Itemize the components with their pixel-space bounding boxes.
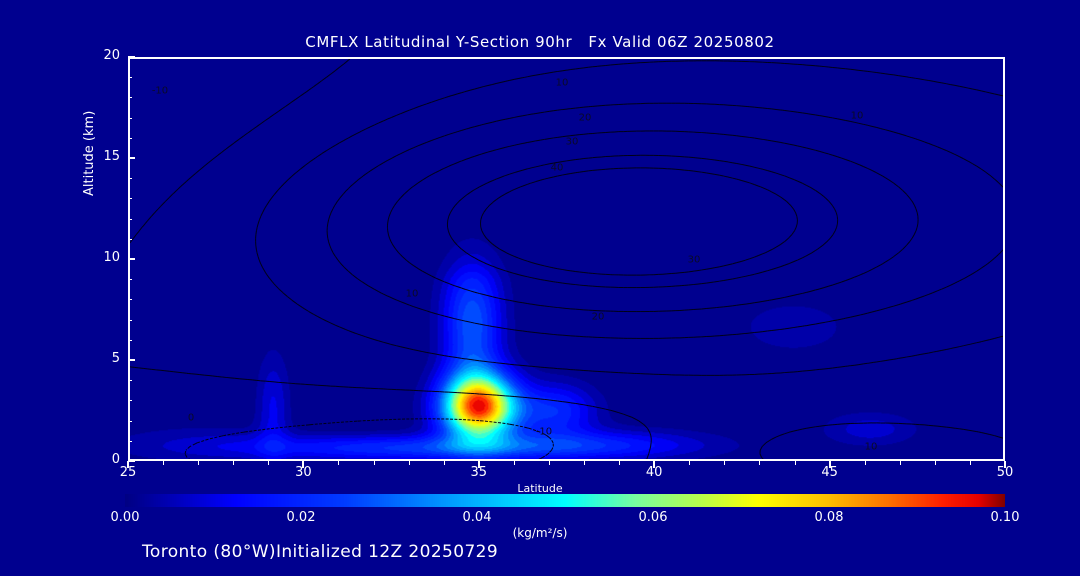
contour-line — [429, 175, 431, 176]
contour-line — [907, 242, 910, 245]
contour-line — [248, 431, 252, 432]
contour-line — [523, 303, 527, 304]
contour-line — [136, 232, 138, 235]
contour-line — [767, 190, 769, 191]
contour-line — [916, 227, 917, 231]
contour-line — [392, 345, 396, 346]
contour-line — [914, 231, 915, 234]
contour-line — [329, 216, 330, 220]
contour-line — [370, 338, 374, 339]
contour-line — [527, 114, 531, 115]
contour-line — [406, 260, 409, 262]
contour-line — [750, 275, 753, 276]
contour-line — [322, 151, 326, 154]
contour-line — [399, 253, 401, 255]
contour-line — [388, 296, 389, 297]
contour-line — [367, 127, 370, 128]
contour-line — [428, 311, 431, 312]
contour-line — [263, 209, 265, 213]
contour-line — [156, 209, 158, 211]
contour-label: 10 — [851, 111, 864, 122]
contour-line — [176, 189, 178, 190]
contour-line — [912, 234, 914, 238]
contour-label: 30 — [688, 255, 701, 266]
contour-line — [820, 322, 824, 323]
contour-line — [484, 234, 487, 238]
contour-line — [977, 342, 981, 343]
contour-line — [772, 172, 774, 173]
contour-line — [361, 281, 362, 282]
contour-line — [392, 115, 396, 117]
contour-line — [265, 118, 269, 121]
contour-line — [162, 202, 165, 205]
contour-line — [767, 439, 771, 442]
contour-line — [448, 227, 449, 231]
contour-line — [636, 420, 638, 421]
contour-line — [291, 102, 292, 103]
contour-line — [802, 428, 806, 429]
contour-line — [860, 314, 863, 315]
contour-line — [793, 260, 797, 262]
x-axis-minor-tick — [514, 461, 515, 465]
contour-line — [883, 262, 885, 264]
contour-line — [890, 306, 894, 307]
contour-line — [937, 147, 941, 149]
contour-line — [882, 176, 885, 178]
contour-line — [457, 319, 461, 320]
contour-line — [793, 327, 797, 328]
colorbar-tick-label: 0.02 — [261, 510, 341, 525]
contour-line — [224, 149, 226, 150]
contour-line — [200, 441, 204, 442]
contour-line — [455, 203, 457, 205]
contour-line — [863, 272, 867, 274]
contour-line — [440, 136, 444, 137]
contour-line — [488, 151, 492, 152]
contour-line — [942, 349, 946, 350]
contour-line — [790, 205, 793, 209]
contour-line — [510, 118, 514, 119]
x-axis-minor-tick — [970, 461, 971, 465]
contour-line — [261, 264, 263, 267]
contour-line — [431, 101, 435, 102]
x-axis-minor-tick — [689, 461, 690, 465]
contour-line — [850, 316, 854, 317]
contour-line — [213, 158, 215, 159]
contour-line — [275, 191, 278, 195]
contour-line — [540, 74, 544, 75]
contour-line — [519, 170, 523, 171]
contour-line — [881, 175, 883, 176]
contour-line — [487, 183, 488, 184]
contour-line — [767, 250, 771, 252]
contour-line — [510, 191, 512, 192]
contour-line — [408, 190, 409, 191]
contour-line — [824, 197, 825, 198]
contour-line — [316, 156, 318, 157]
contour-line — [470, 360, 474, 361]
contour-line — [741, 260, 745, 261]
contour-line — [215, 156, 218, 158]
contour-line — [571, 403, 575, 404]
contour-line — [492, 244, 494, 246]
x-axis-tick-mark — [478, 461, 480, 468]
contour-line — [767, 270, 771, 271]
contour-line — [711, 174, 715, 175]
contour-line — [305, 92, 307, 93]
contour-line — [492, 180, 494, 181]
contour-line — [981, 91, 985, 92]
x-axis-minor-tick — [163, 461, 164, 465]
colorbar-unit-label: (kg/m²/s) — [0, 526, 1080, 540]
contour-line — [405, 110, 409, 112]
contour-line — [776, 194, 780, 197]
contour-line — [191, 444, 195, 446]
contour-line — [374, 289, 378, 291]
contour-label: 0 — [188, 413, 194, 424]
contour-line — [907, 136, 911, 137]
y-axis-tick-label: 20 — [60, 48, 120, 63]
contour-line — [584, 405, 588, 406]
contour-line — [885, 74, 889, 75]
contour-line — [724, 280, 728, 281]
contour-line — [311, 159, 314, 161]
contour-line — [820, 116, 824, 117]
contour-line — [388, 231, 389, 235]
contour-line — [899, 249, 903, 252]
contour-line — [389, 213, 390, 217]
contour-line — [815, 249, 817, 250]
contour-line — [951, 428, 955, 429]
contour-line — [842, 120, 846, 121]
contour-line — [868, 312, 872, 313]
contour-line — [863, 313, 867, 314]
x-axis-minor-tick — [900, 461, 901, 465]
y-axis-minor-tick — [128, 380, 132, 381]
contour-line — [379, 292, 381, 293]
contour-line — [464, 91, 466, 92]
contour-line — [484, 183, 487, 184]
contour-line — [999, 183, 1003, 187]
contour-line — [405, 191, 408, 194]
contour-line — [182, 183, 184, 185]
contour-line — [449, 317, 453, 318]
contour-line — [924, 353, 928, 354]
contour-line — [187, 447, 190, 450]
contour-line — [955, 347, 959, 348]
contour-line — [543, 456, 545, 457]
contour-line — [903, 245, 907, 249]
contour-line — [388, 343, 391, 344]
contour-line — [1001, 336, 1003, 337]
contour-line — [388, 118, 392, 119]
contour-line — [340, 327, 344, 329]
contour-line — [990, 93, 994, 94]
contour-line — [281, 185, 283, 187]
contour-line — [992, 258, 994, 260]
contour-line — [291, 176, 292, 177]
contour-line — [479, 154, 481, 155]
contour-line — [226, 147, 229, 149]
contour-line — [780, 265, 784, 267]
contour-line — [772, 437, 776, 439]
contour-line — [986, 433, 990, 434]
contour-line — [532, 141, 536, 142]
contour-line — [463, 195, 466, 198]
contour-line — [811, 114, 815, 115]
contour-line — [370, 125, 374, 127]
contour-line — [436, 170, 440, 172]
contour-line — [405, 303, 406, 304]
contour-line — [391, 242, 392, 243]
contour-line — [514, 79, 518, 80]
x-axis-tick-mark — [1004, 461, 1006, 468]
contour-line — [807, 325, 811, 326]
contour-line — [466, 158, 470, 159]
contour-line — [715, 160, 719, 161]
contour-line — [501, 250, 505, 252]
contour-line — [946, 349, 950, 350]
contour-line — [911, 78, 915, 79]
y-axis-minor-tick — [128, 239, 132, 240]
contour-line — [650, 447, 651, 451]
contour-line — [449, 283, 453, 285]
contour-line — [759, 139, 763, 140]
contour-line — [366, 128, 367, 129]
contour-line — [835, 227, 836, 231]
contour-line — [811, 188, 815, 191]
contour-line — [916, 298, 920, 300]
contour-line — [872, 126, 876, 127]
contour-line — [358, 177, 361, 179]
contour-line — [475, 292, 478, 293]
y-axis-minor-tick — [128, 279, 132, 280]
contour-line — [330, 245, 331, 248]
contour-line — [650, 432, 651, 436]
contour-line — [566, 270, 570, 271]
contour-line — [333, 253, 335, 256]
contour-line — [558, 282, 562, 283]
contour-line — [532, 182, 536, 183]
contour-line — [392, 205, 394, 209]
colorbar-gradient — [125, 494, 1005, 507]
contour-line — [824, 286, 828, 287]
contour-line — [789, 144, 793, 145]
contour-line — [968, 430, 972, 431]
contour-line — [828, 201, 829, 202]
contour-line — [706, 159, 710, 160]
contour-line — [807, 428, 811, 429]
contour-line — [405, 348, 409, 349]
x-axis-minor-tick — [374, 461, 375, 465]
contour-line — [728, 162, 732, 163]
contour-line — [155, 211, 156, 212]
contour-line — [488, 122, 492, 123]
contour-line — [514, 273, 518, 274]
contour-line — [750, 257, 754, 258]
contour-line — [414, 183, 418, 186]
contour-line — [641, 422, 644, 424]
contour-line — [956, 428, 960, 429]
contour-line — [368, 171, 370, 172]
contour-line — [346, 138, 349, 139]
contour-line — [762, 457, 763, 458]
contour-line — [344, 191, 346, 194]
contour-line — [796, 213, 797, 217]
contour-line — [724, 161, 728, 162]
contour-line — [767, 170, 771, 171]
contour-line — [462, 92, 464, 93]
contour-line — [995, 180, 998, 183]
contour-line — [134, 234, 136, 237]
contour-line — [366, 284, 368, 285]
x-axis-minor-tick — [865, 461, 866, 465]
contour-line — [355, 333, 357, 334]
contour-line — [562, 269, 566, 270]
contour-line — [393, 156, 397, 158]
contour-line — [315, 315, 318, 317]
contour-line — [335, 70, 336, 71]
contour-line — [785, 110, 789, 111]
contour-line — [737, 261, 741, 262]
contour-line — [481, 216, 482, 220]
y-axis-minor-tick — [128, 421, 132, 422]
contour-line — [536, 74, 540, 75]
contour-line — [257, 125, 260, 127]
contour-line — [907, 356, 911, 357]
contour-line — [269, 201, 270, 202]
contour-line — [789, 111, 793, 112]
contour-line — [404, 193, 405, 194]
contour-line — [737, 305, 741, 306]
contour-line — [876, 73, 880, 74]
contour-line — [195, 172, 196, 173]
x-axis-minor-tick — [619, 461, 620, 465]
contour-line — [706, 269, 710, 270]
contour-line — [990, 339, 994, 340]
contour-line — [523, 169, 527, 170]
contour-line — [981, 432, 985, 433]
contour-line — [489, 326, 492, 327]
contour-line — [261, 213, 263, 216]
contour-line — [972, 164, 974, 165]
contour-line — [462, 249, 466, 252]
contour-line — [326, 74, 330, 77]
contour-line — [414, 350, 418, 351]
contour-line — [425, 142, 427, 143]
contour-line — [920, 354, 924, 355]
contour-line — [789, 328, 793, 329]
contour-line — [795, 227, 797, 231]
contour-line — [187, 457, 191, 460]
contour-line — [445, 134, 449, 135]
contour-line — [392, 298, 396, 300]
contour-line — [261, 429, 265, 430]
contour-line — [470, 191, 473, 193]
contour-line — [389, 297, 392, 298]
contour-line — [872, 72, 876, 73]
contour-line — [898, 304, 900, 305]
contour-line — [942, 287, 946, 289]
contour-line — [811, 324, 815, 325]
contour-line — [200, 169, 201, 170]
contour-line — [807, 148, 811, 149]
contour-line — [792, 232, 793, 234]
contour-line — [300, 96, 301, 97]
contour-line — [366, 172, 368, 174]
colorbar — [125, 494, 1005, 507]
contour-line — [780, 175, 784, 176]
contour-line — [309, 312, 313, 314]
contour-line — [331, 209, 333, 213]
contour-line — [815, 426, 819, 427]
contour-line — [745, 182, 749, 183]
contour-line — [737, 164, 741, 165]
contour-line — [430, 102, 432, 103]
contour-line — [558, 110, 562, 111]
contour-line — [977, 268, 981, 271]
contour-line — [527, 277, 531, 278]
contour-line — [549, 400, 553, 401]
contour-line — [484, 262, 487, 263]
contour-line — [763, 271, 767, 272]
y-axis-minor-tick — [128, 441, 132, 442]
contour-line — [750, 137, 754, 138]
contour-line — [406, 304, 409, 305]
contour-line — [505, 192, 509, 194]
contour-line — [501, 299, 505, 300]
contour-line — [264, 208, 265, 209]
contour-line — [333, 205, 335, 209]
contour-line — [988, 262, 990, 264]
contour-line — [329, 242, 330, 246]
contour-line — [409, 263, 411, 264]
contour-line — [869, 269, 872, 271]
contour-line — [527, 261, 531, 262]
contour-line — [327, 148, 331, 150]
contour-line — [265, 205, 266, 207]
contour-line — [479, 324, 483, 325]
colorbar-tick-label: 0.06 — [613, 510, 693, 525]
contour-line — [558, 175, 562, 176]
contour-line — [333, 145, 335, 146]
contour-line — [514, 117, 518, 118]
contour-line — [793, 209, 795, 213]
contour-line — [230, 434, 234, 435]
contour-line — [510, 272, 514, 273]
contour-line — [470, 291, 474, 292]
contour-line — [497, 120, 501, 121]
contour-line — [470, 156, 474, 157]
contour-line — [760, 454, 762, 458]
contour-line — [903, 191, 907, 195]
contour-line — [180, 185, 182, 187]
contour-line — [739, 180, 741, 181]
contour-line — [872, 170, 876, 172]
contour-line — [331, 249, 333, 253]
contour-line — [855, 122, 859, 123]
contour-line — [912, 202, 914, 206]
contour-line — [494, 245, 496, 247]
contour-line — [259, 216, 260, 220]
y-axis-tick-mark — [128, 258, 135, 260]
contour-line — [850, 121, 854, 122]
contour-line — [296, 169, 300, 172]
contour-line — [750, 303, 754, 304]
contour-line — [313, 85, 316, 87]
contour-line — [889, 259, 890, 260]
contour-line — [143, 224, 145, 227]
